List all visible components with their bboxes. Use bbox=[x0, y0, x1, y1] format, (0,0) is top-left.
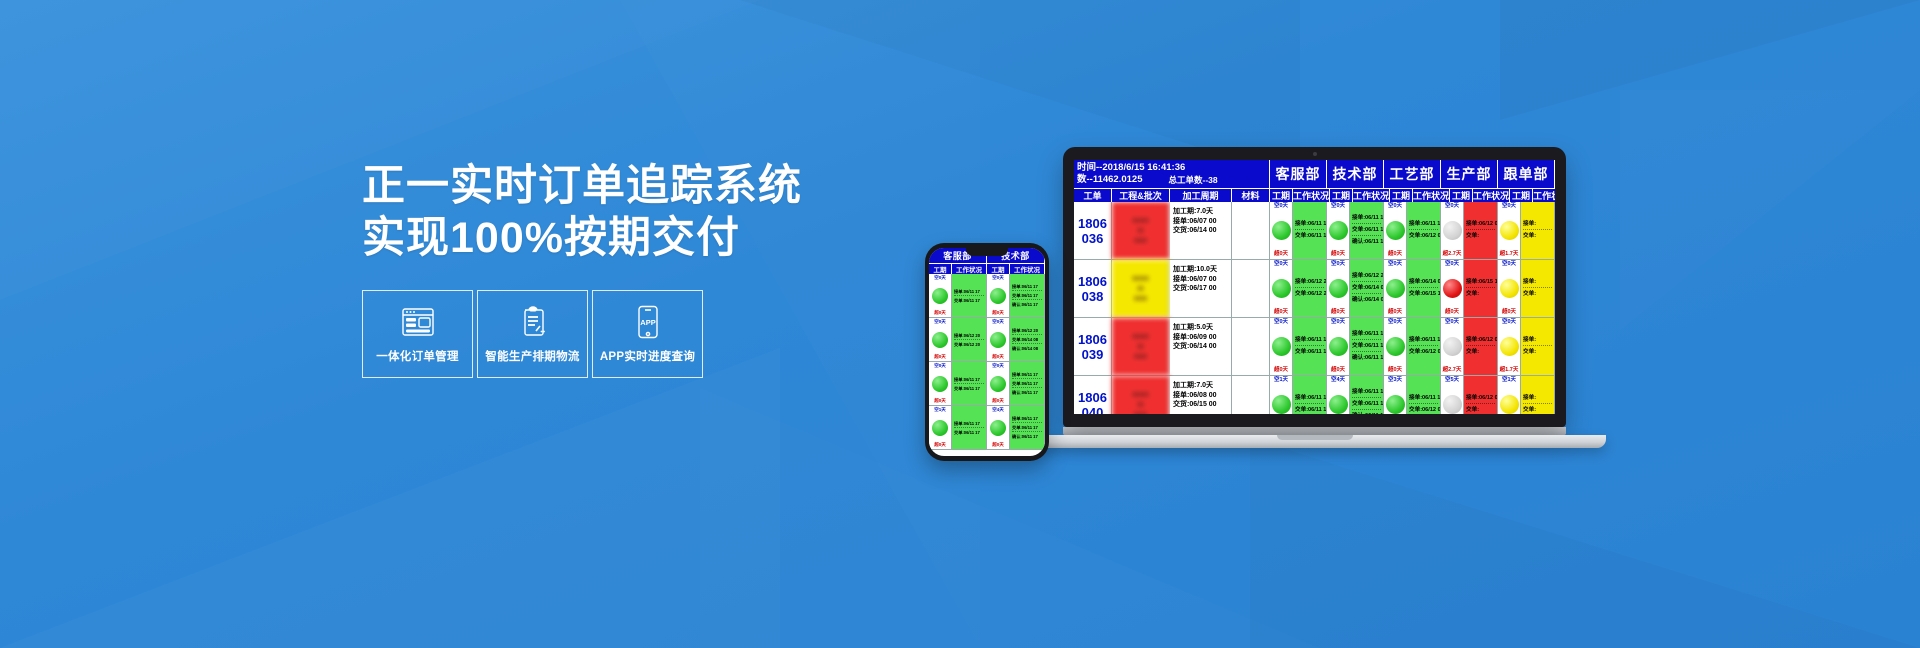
phone-table-row[interactable]: 空0天超0天接单:06/11 17交单:06/11 17空0天超0天接单:06/… bbox=[929, 362, 1045, 406]
cycle-line: 加工期:7.0天 bbox=[1173, 381, 1228, 391]
overdue-days-tag: 超1.7天 bbox=[1500, 251, 1519, 258]
status-line: 交单:06/11 17 bbox=[954, 429, 984, 436]
phone-notch bbox=[966, 248, 1008, 256]
laptop-lid: 时间--2018/6/15 16:41:36 数--11462.0125 总工单… bbox=[1063, 147, 1566, 427]
column-header: 工作状况 bbox=[1473, 188, 1510, 202]
status-line: 接单:06/12 20 bbox=[1295, 278, 1324, 288]
work-status-cell[interactable]: 接单:06/11 17交单:06/11 17确认:06/11 17 bbox=[1350, 376, 1384, 414]
department-header: 技术部 bbox=[1327, 160, 1384, 188]
status-line: 交单:06/11 17 bbox=[1012, 424, 1042, 432]
project-batch-cell: ▮▮▮▮▮▮▮▮▮▮▮ bbox=[1112, 318, 1170, 375]
processing-cycle-cell: 加工期:5.0天接单:06/09 00交货:06/14 00 bbox=[1170, 318, 1232, 375]
overdue-days-tag: 超0天 bbox=[1445, 309, 1459, 316]
idle-days-tag: 空1天 bbox=[934, 407, 946, 413]
material-cell bbox=[1232, 376, 1270, 414]
overdue-days-tag: 超0天 bbox=[992, 310, 1004, 316]
work-status-cell[interactable]: 接单:06/11 17交单:06/11 17确认:06/11 17 bbox=[1350, 318, 1384, 375]
overdue-days-tag: 超1.7天 bbox=[1500, 367, 1519, 374]
project-batch-cell: ▮▮▮▮▮▮▮▮▮▮▮ bbox=[1112, 376, 1170, 414]
phone-work-status-cell[interactable]: 接单:06/12 20交单:06/12 20 bbox=[952, 318, 987, 361]
phone-work-status-cell[interactable]: 接单:06/11 17交单:06/11 17确认:06/11 17 bbox=[1010, 362, 1045, 405]
status-line: 接单:06/12 09 bbox=[1466, 394, 1495, 404]
duration-cell[interactable]: 空1天超0.7天 bbox=[1498, 376, 1521, 414]
table-row[interactable]: 1806 040▮▮▮▮▮▮▮▮▮▮▮加工期:7.0天接单:06/08 00交货… bbox=[1074, 376, 1555, 414]
work-status-cell[interactable]: 接单:06/11 17交单:06/12 09 bbox=[1407, 318, 1441, 375]
status-line: 交单:06/11 17 bbox=[1352, 400, 1381, 410]
status-line: 交单: bbox=[1466, 232, 1495, 241]
status-line: 交单:06/11 17 bbox=[1295, 348, 1324, 357]
duration-cell[interactable]: 空0天超0天 bbox=[1270, 202, 1293, 259]
laptop-mockup: 时间--2018/6/15 16:41:36 数--11462.0125 总工单… bbox=[1063, 147, 1566, 448]
work-status-cell[interactable]: 接单:06/15 16交单: bbox=[1464, 260, 1498, 317]
status-line: 接单:06/11 17 bbox=[1409, 220, 1438, 230]
duration-cell[interactable]: 空0天超0天 bbox=[1384, 318, 1407, 375]
duration-cell[interactable]: 空3天超0天 bbox=[1384, 376, 1407, 414]
status-line: 交单:06/11 17 bbox=[1012, 380, 1042, 388]
feature-box-app-progress[interactable]: APP APP实时进度查询 bbox=[592, 290, 703, 378]
idle-days-tag: 空0天 bbox=[1388, 319, 1402, 326]
processing-cycle-cell: 加工期:10.0天接单:06/07 00交货:06/17 00 bbox=[1170, 260, 1232, 317]
overdue-days-tag: 超0天 bbox=[992, 398, 1004, 404]
dashboard-column-headers: 工单工程&批次加工周期材料工期工作状况工期工作状况工期工作状况工期工作状况工期工… bbox=[1074, 188, 1555, 202]
phone-work-status-cell[interactable]: 接单:06/11 17交单:06/11 17 bbox=[952, 274, 987, 317]
status-line: 交单:06/11 17 bbox=[1295, 232, 1324, 241]
idle-days-tag: 空0天 bbox=[1331, 319, 1345, 326]
status-line: 接单:06/11 17 bbox=[1352, 388, 1381, 398]
order-number: 1806 036 bbox=[1074, 202, 1112, 259]
table-row[interactable]: 1806 038▮▮▮▮▮▮▮▮▮▮▮加工期:10.0天接单:06/07 00交… bbox=[1074, 260, 1555, 318]
column-header: 材料 bbox=[1232, 188, 1270, 202]
idle-days-tag: 空0天 bbox=[1331, 261, 1345, 268]
work-status-cell[interactable]: 接单:06/12 20交单:06/12 20 bbox=[1293, 260, 1327, 317]
status-lamp-green bbox=[1272, 279, 1291, 298]
idle-days-tag: 空1天 bbox=[1274, 377, 1288, 384]
duration-cell[interactable]: 空0天超0天 bbox=[1384, 260, 1407, 317]
duration-cell[interactable]: 空0天超0天 bbox=[1384, 202, 1407, 259]
feature-box-order-management[interactable]: 一体化订单管理 bbox=[362, 290, 473, 378]
dashboard-window-icon bbox=[401, 305, 435, 339]
phone-work-status-cell[interactable]: 接单:06/12 20交单:06/14 08确认:06/14 08 bbox=[1010, 318, 1045, 361]
work-status-cell[interactable]: 接单:06/11 17交单:06/12 09 bbox=[1407, 376, 1441, 414]
bg-polygon bbox=[1620, 90, 1920, 330]
department-header: 生产部 bbox=[1441, 160, 1498, 188]
cycle-line: 交货:06/14 00 bbox=[1173, 342, 1228, 352]
status-line: 接单:06/12 09 bbox=[1466, 336, 1495, 346]
overdue-days-tag: 超0天 bbox=[1274, 309, 1288, 316]
idle-days-tag: 空0天 bbox=[1388, 203, 1402, 210]
department-header: 跟单部 bbox=[1498, 160, 1555, 188]
overdue-days-tag: 超0天 bbox=[1274, 251, 1288, 258]
status-lamp-green bbox=[1329, 221, 1348, 240]
phone-column-header: 工作状况 bbox=[1010, 263, 1045, 274]
status-line: 交单:06/12 09 bbox=[1409, 406, 1438, 414]
cycle-line: 接单:06/08 00 bbox=[1173, 391, 1228, 401]
duration-cell[interactable]: 空1天超0天 bbox=[1270, 376, 1293, 414]
status-lamp-green bbox=[1272, 221, 1291, 240]
idle-days-tag: 空0天 bbox=[992, 319, 1004, 325]
phone-duration-cell[interactable]: 空0天超0天 bbox=[929, 362, 952, 405]
status-lamp-green bbox=[1386, 279, 1405, 298]
headline-line-2: 实现100%按期交付 bbox=[362, 212, 882, 264]
status-lamp-green bbox=[1272, 337, 1291, 356]
work-status-cell[interactable]: 接单:06/14 08交单:06/15 16 bbox=[1407, 260, 1441, 317]
idle-days-tag: 空0天 bbox=[1502, 261, 1516, 268]
status-line: 交单:06/11 17 bbox=[954, 385, 984, 392]
order-tracking-dashboard[interactable]: 时间--2018/6/15 16:41:36 数--11462.0125 总工单… bbox=[1074, 160, 1555, 414]
status-line: 接单:06/11 17 bbox=[1352, 214, 1381, 224]
overdue-days-tag: 超0天 bbox=[1388, 367, 1402, 374]
status-line: 确认:06/11 17 bbox=[1012, 433, 1042, 440]
work-status-cell[interactable]: 接单:06/11 17交单:06/11 17 bbox=[1293, 318, 1327, 375]
status-lamp-grey bbox=[1443, 337, 1462, 356]
idle-days-tag: 空0天 bbox=[992, 275, 1004, 281]
status-lamp-red bbox=[1443, 279, 1462, 298]
overdue-days-tag: 超0天 bbox=[992, 442, 1004, 448]
overdue-days-tag: 超2.7天 bbox=[1443, 367, 1462, 374]
dashboard-title-bar: 时间--2018/6/15 16:41:36 数--11462.0125 总工单… bbox=[1074, 160, 1555, 188]
idle-days-tag: 空4天 bbox=[992, 407, 1004, 413]
duration-cell[interactable]: 空0天超0天 bbox=[1327, 202, 1350, 259]
cycle-line: 加工期:10.0天 bbox=[1173, 265, 1228, 275]
cycle-line: 接单:06/07 00 bbox=[1173, 217, 1228, 227]
feature-label: 一体化订单管理 bbox=[376, 348, 459, 364]
cycle-line: 加工期:7.0天 bbox=[1173, 207, 1228, 217]
status-line: 确认:06/11 17 bbox=[1352, 238, 1381, 247]
column-header: 工作状况 bbox=[1413, 188, 1450, 202]
status-lamp-green bbox=[932, 420, 948, 436]
column-header: 工作状况 bbox=[1353, 188, 1390, 202]
column-header: 工程&批次 bbox=[1112, 188, 1170, 202]
overdue-days-tag: 超0天 bbox=[1274, 367, 1288, 374]
duration-cell[interactable]: 空0天超2.7天 bbox=[1441, 318, 1464, 375]
status-line: 接单:06/11 17 bbox=[1409, 394, 1438, 404]
status-line: 交单:06/11 17 bbox=[1012, 292, 1042, 300]
idle-days-tag: 空5天 bbox=[1445, 377, 1459, 384]
duration-cell[interactable]: 空0天超0天 bbox=[1327, 318, 1350, 375]
dashboard-time: 时间--2018/6/15 16:41:36 bbox=[1077, 162, 1266, 174]
table-row[interactable]: 1806 036▮▮▮▮▮▮▮▮▮▮▮加工期:7.0天接单:06/07 00交货… bbox=[1074, 202, 1555, 260]
idle-days-tag: 空0天 bbox=[992, 363, 1004, 369]
phone-duration-cell[interactable]: 空0天超0天 bbox=[987, 318, 1010, 361]
idle-days-tag: 空1天 bbox=[1502, 377, 1516, 384]
status-line: 交单:06/12 09 bbox=[1409, 232, 1438, 241]
order-number: 1806 040 bbox=[1074, 376, 1112, 414]
status-lamp-grey bbox=[1443, 221, 1462, 240]
overdue-days-tag: 超2.7天 bbox=[1443, 251, 1462, 258]
cycle-line: 交货:06/17 00 bbox=[1173, 284, 1228, 294]
idle-days-tag: 空0天 bbox=[1388, 261, 1402, 268]
duration-cell[interactable]: 空0天超1.7天 bbox=[1498, 202, 1521, 259]
status-line: 接单:06/11 17 bbox=[1409, 336, 1438, 346]
overdue-days-tag: 超0天 bbox=[934, 354, 946, 360]
column-header: 工期 bbox=[1270, 188, 1293, 202]
phone-duration-cell[interactable]: 空1天超0天 bbox=[929, 406, 952, 449]
phone-column-header: 工期 bbox=[987, 263, 1010, 274]
status-lamp-yellow bbox=[1500, 395, 1519, 414]
status-line: 接单:06/11 17 bbox=[1295, 336, 1324, 346]
status-lamp-green bbox=[1386, 221, 1405, 240]
status-lamp-green bbox=[1329, 395, 1348, 414]
status-line: 交单:06/12 09 bbox=[1409, 348, 1438, 357]
feature-box-production-scheduling[interactable]: 智能生产排期物流 bbox=[477, 290, 588, 378]
phone-work-status-cell[interactable]: 接单:06/11 17交单:06/11 17 bbox=[952, 362, 987, 405]
status-line: 交单:06/14 08 bbox=[1012, 336, 1042, 344]
status-line: 确认:06/11 17 bbox=[1012, 389, 1042, 396]
status-line: 交单: bbox=[1466, 348, 1495, 357]
status-line: 接单:06/11 17 bbox=[1295, 394, 1324, 404]
work-status-cell[interactable]: 接单:交单: bbox=[1521, 202, 1555, 259]
duration-cell[interactable]: 空0天超0天 bbox=[1441, 260, 1464, 317]
work-status-cell[interactable]: 接单:交单: bbox=[1521, 260, 1555, 317]
feature-label: APP实时进度查询 bbox=[600, 348, 695, 364]
status-lamp-grey bbox=[1443, 395, 1462, 414]
column-header: 工期 bbox=[1450, 188, 1473, 202]
idle-days-tag: 空0天 bbox=[1502, 203, 1516, 210]
status-line: 确认:06/11 17 bbox=[1352, 412, 1381, 414]
work-status-cell[interactable]: 接单:06/12 09交单: bbox=[1464, 202, 1498, 259]
status-line: 交单:06/12 20 bbox=[1295, 290, 1324, 299]
phone-work-status-cell[interactable]: 接单:06/11 17交单:06/11 17确认:06/11 17 bbox=[1010, 274, 1045, 317]
status-line: 接单:06/11 17 bbox=[1012, 283, 1042, 291]
overdue-days-tag: 超0天 bbox=[934, 310, 946, 316]
cycle-line: 接单:06/09 00 bbox=[1173, 333, 1228, 343]
phone-screen[interactable]: 客服部技术部 工期工作状况工期工作状况 空0天超0天接单:06/11 17交单:… bbox=[929, 248, 1045, 456]
work-status-cell[interactable]: 接单:06/11 17交单:06/11 17确认:06/11 17 bbox=[1350, 202, 1384, 259]
idle-days-tag: 空3天 bbox=[1388, 377, 1402, 384]
status-lamp-green bbox=[932, 376, 948, 392]
status-line: 接单:06/11 17 bbox=[1352, 330, 1381, 340]
status-line: 接单: bbox=[1523, 278, 1552, 288]
status-lamp-green bbox=[990, 376, 1006, 392]
phone-column-headers: 工期工作状况工期工作状况 bbox=[929, 263, 1045, 274]
status-line: 接单:06/14 08 bbox=[1409, 278, 1438, 288]
processing-cycle-cell: 加工期:7.0天接单:06/07 00交货:06/14 00 bbox=[1170, 202, 1232, 259]
status-line: 交单:06/14 08 bbox=[1352, 284, 1381, 294]
phone-mockup: 客服部技术部 工期工作状况工期工作状况 空0天超0天接单:06/11 17交单:… bbox=[925, 243, 1049, 461]
processing-cycle-cell: 加工期:7.0天接单:06/08 00交货:06/15 00 bbox=[1170, 376, 1232, 414]
idle-days-tag: 空4天 bbox=[1331, 377, 1345, 384]
idle-days-tag: 空0天 bbox=[1274, 319, 1288, 326]
duration-cell[interactable]: 空0天超1.7天 bbox=[1498, 318, 1521, 375]
column-header: 工期 bbox=[1510, 188, 1533, 202]
status-line: 接单: bbox=[1523, 394, 1552, 404]
work-status-cell[interactable]: 接单:06/11 17交单:06/12 09 bbox=[1407, 202, 1441, 259]
status-lamp-green bbox=[1329, 279, 1348, 298]
overdue-days-tag: 超0天 bbox=[934, 398, 946, 404]
phone-duration-cell[interactable]: 空4天超0天 bbox=[987, 406, 1010, 449]
clipboard-schedule-icon bbox=[519, 305, 547, 339]
work-status-cell[interactable]: 接单:交单: bbox=[1521, 318, 1555, 375]
status-lamp-green bbox=[990, 332, 1006, 348]
duration-cell[interactable]: 空0天超2.7天 bbox=[1441, 202, 1464, 259]
status-lamp-green bbox=[932, 288, 948, 304]
idle-days-tag: 空0天 bbox=[1445, 203, 1459, 210]
overdue-days-tag: 超0天 bbox=[1388, 309, 1402, 316]
headline-line-1: 正一实时订单追踪系统 bbox=[362, 160, 882, 212]
hero-copy: 正一实时订单追踪系统 实现100%按期交付 一体化订单管理 bbox=[362, 160, 882, 378]
status-lamp-yellow bbox=[1500, 279, 1519, 298]
phone-column-header: 工期 bbox=[929, 263, 952, 274]
status-line: 交单: bbox=[1523, 290, 1552, 299]
phone-table-row[interactable]: 空0天超0天接单:06/12 20交单:06/12 20空0天超0天接单:06/… bbox=[929, 318, 1045, 362]
status-line: 交单:06/11 17 bbox=[1352, 342, 1381, 352]
phone-dashboard-rows[interactable]: 空0天超0天接单:06/11 17交单:06/11 17空0天超0天接单:06/… bbox=[929, 274, 1045, 450]
cycle-line: 接单:06/07 00 bbox=[1173, 275, 1228, 285]
status-line: 接单:06/12 09 bbox=[1466, 220, 1495, 230]
column-header: 工期 bbox=[1390, 188, 1413, 202]
status-line: 接单:06/11 17 bbox=[1012, 371, 1042, 379]
status-line: 交单:06/11 17 bbox=[1295, 406, 1324, 414]
status-line: 交单:06/12 20 bbox=[954, 341, 984, 348]
order-number: 1806 039 bbox=[1074, 318, 1112, 375]
cycle-line: 加工期:5.0天 bbox=[1173, 323, 1228, 333]
idle-days-tag: 空0天 bbox=[1274, 261, 1288, 268]
status-line: 交单: bbox=[1466, 406, 1495, 414]
duration-cell[interactable]: 空0天超0天 bbox=[1498, 260, 1521, 317]
work-status-cell[interactable]: 接单:06/11 17交单:06/11 17 bbox=[1293, 376, 1327, 414]
phone-work-status-cell[interactable]: 接单:06/11 17交单:06/11 17确认:06/11 17 bbox=[1010, 406, 1045, 449]
cycle-line: 交货:06/15 00 bbox=[1173, 400, 1228, 410]
phone-duration-cell[interactable]: 空0天超0天 bbox=[929, 318, 952, 361]
idle-days-tag: 空0天 bbox=[1502, 319, 1516, 326]
status-lamp-yellow bbox=[1500, 221, 1519, 240]
material-cell bbox=[1232, 202, 1270, 259]
laptop-base bbox=[1023, 435, 1606, 448]
feature-label: 智能生产排期物流 bbox=[485, 348, 579, 364]
cycle-line: 交货:06/14 00 bbox=[1173, 226, 1228, 236]
duration-cell[interactable]: 空0天超0天 bbox=[1327, 260, 1350, 317]
overdue-days-tag: 超0天 bbox=[934, 442, 946, 448]
feature-list: 一体化订单管理 智能生产排期物流 bbox=[362, 290, 882, 378]
column-header: 工单 bbox=[1074, 188, 1112, 202]
status-lamp-green bbox=[1386, 395, 1405, 414]
status-lamp-green bbox=[1386, 337, 1405, 356]
idle-days-tag: 空0天 bbox=[934, 363, 946, 369]
idle-days-tag: 空0天 bbox=[1274, 203, 1288, 210]
status-line: 确认:06/11 17 bbox=[1352, 354, 1381, 363]
status-lamp-green bbox=[932, 332, 948, 348]
order-number: 1806 038 bbox=[1074, 260, 1112, 317]
phone-order-tracking-dashboard[interactable]: 客服部技术部 工期工作状况工期工作状况 空0天超0天接单:06/11 17交单:… bbox=[929, 248, 1045, 456]
status-line: 接单:06/12 20 bbox=[1352, 272, 1381, 282]
svg-text:APP: APP bbox=[640, 318, 655, 327]
phone-duration-cell[interactable]: 空0天超0天 bbox=[987, 274, 1010, 317]
dashboard-rows[interactable]: 1806 036▮▮▮▮▮▮▮▮▮▮▮加工期:7.0天接单:06/07 00交货… bbox=[1074, 202, 1555, 414]
column-header: 工期 bbox=[1330, 188, 1353, 202]
idle-days-tag: 空0天 bbox=[1445, 319, 1459, 326]
overdue-days-tag: 超0天 bbox=[1331, 367, 1345, 374]
status-line: 接单:06/11 17 bbox=[1295, 220, 1324, 230]
status-line: 交单: bbox=[1523, 406, 1552, 414]
phone-duration-cell[interactable]: 空0天超0天 bbox=[987, 362, 1010, 405]
work-status-cell[interactable]: 接单:06/12 09交单: bbox=[1464, 376, 1498, 414]
phone-work-status-cell[interactable]: 接单:06/11 17交单:06/11 17 bbox=[952, 406, 987, 449]
status-line: 交单: bbox=[1523, 348, 1552, 357]
duration-cell[interactable]: 空0天超0天 bbox=[1270, 318, 1293, 375]
status-line: 确认:06/14 08 bbox=[1012, 345, 1042, 352]
department-header: 客服部 bbox=[1270, 160, 1327, 188]
table-row[interactable]: 1806 039▮▮▮▮▮▮▮▮▮▮▮加工期:5.0天接单:06/09 00交货… bbox=[1074, 318, 1555, 376]
status-lamp-green bbox=[990, 288, 1006, 304]
work-status-cell[interactable]: 接单:06/12 09交单: bbox=[1464, 318, 1498, 375]
laptop-hinge bbox=[1063, 427, 1566, 435]
overdue-days-tag: 超0天 bbox=[1388, 251, 1402, 258]
status-line: 接单:06/12 20 bbox=[1012, 327, 1042, 335]
laptop-screen[interactable]: 时间--2018/6/15 16:41:36 数--11462.0125 总工单… bbox=[1074, 160, 1555, 414]
status-lamp-green bbox=[990, 420, 1006, 436]
project-batch-cell: ▮▮▮▮▮▮▮▮▮▮▮ bbox=[1112, 202, 1170, 259]
dashboard-meta: 时间--2018/6/15 16:41:36 数--11462.0125 总工单… bbox=[1074, 160, 1270, 188]
column-header: 工作状况 bbox=[1293, 188, 1330, 202]
status-line: 接单:06/12 20 bbox=[954, 332, 984, 340]
project-batch-cell: ▮▮▮▮▮▮▮▮▮▮▮ bbox=[1112, 260, 1170, 317]
idle-days-tag: 空0天 bbox=[934, 319, 946, 325]
column-header: 加工周期 bbox=[1170, 188, 1232, 202]
phone-column-header: 工作状况 bbox=[952, 263, 987, 274]
laptop-trackpad-notch bbox=[1277, 435, 1353, 440]
status-line: 交单:06/11 17 bbox=[1352, 226, 1381, 236]
status-lamp-green bbox=[1329, 337, 1348, 356]
webcam-icon bbox=[1313, 152, 1317, 156]
dashboard-count: 数--11462.0125 bbox=[1077, 174, 1143, 186]
department-headers: 客服部技术部工艺部生产部跟单部 bbox=[1270, 160, 1555, 188]
duration-cell[interactable]: 空0天超0天 bbox=[1270, 260, 1293, 317]
status-lamp-green bbox=[1272, 395, 1291, 414]
idle-days-tag: 空0天 bbox=[1445, 261, 1459, 268]
status-line: 交单: bbox=[1466, 290, 1495, 299]
status-line: 接单:06/11 17 bbox=[954, 420, 984, 428]
duration-cell[interactable]: 空4天超0天 bbox=[1327, 376, 1350, 414]
overdue-days-tag: 超0天 bbox=[1502, 309, 1516, 316]
material-cell bbox=[1232, 260, 1270, 317]
phone-table-row[interactable]: 空1天超0天接单:06/11 17交单:06/11 17空4天超0天接单:06/… bbox=[929, 406, 1045, 450]
status-line: 接单:06/11 17 bbox=[1012, 415, 1042, 423]
status-line: 接单: bbox=[1523, 220, 1552, 230]
work-status-cell[interactable]: 接单:06/12 20交单:06/14 08确认:06/14 08 bbox=[1350, 260, 1384, 317]
phone-table-row[interactable]: 空0天超0天接单:06/11 17交单:06/11 17空0天超0天接单:06/… bbox=[929, 274, 1045, 318]
mobile-app-icon: APP bbox=[636, 305, 660, 339]
status-line: 确认:06/11 17 bbox=[1012, 301, 1042, 308]
work-status-cell[interactable]: 接单:交单: bbox=[1521, 376, 1555, 414]
status-lamp-yellow bbox=[1500, 337, 1519, 356]
overdue-days-tag: 超0天 bbox=[1331, 309, 1345, 316]
status-line: 确认:06/14 08 bbox=[1352, 296, 1381, 305]
status-line: 交单: bbox=[1523, 232, 1552, 241]
idle-days-tag: 空0天 bbox=[1331, 203, 1345, 210]
overdue-days-tag: 超0天 bbox=[992, 354, 1004, 360]
column-header: 工作状况 bbox=[1533, 188, 1555, 202]
status-line: 交单:06/15 16 bbox=[1409, 290, 1438, 299]
material-cell bbox=[1232, 318, 1270, 375]
work-status-cell[interactable]: 接单:06/11 17交单:06/11 17 bbox=[1293, 202, 1327, 259]
idle-days-tag: 空0天 bbox=[934, 275, 946, 281]
department-header: 工艺部 bbox=[1384, 160, 1441, 188]
status-line: 接单: bbox=[1523, 336, 1552, 346]
status-line: 接单:06/11 17 bbox=[954, 376, 984, 384]
dashboard-total-orders: 总工单数--38 bbox=[1169, 174, 1218, 186]
phone-duration-cell[interactable]: 空0天超0天 bbox=[929, 274, 952, 317]
overdue-days-tag: 超0天 bbox=[1331, 251, 1345, 258]
bg-polygon bbox=[1250, 438, 1920, 648]
status-line: 交单:06/11 17 bbox=[954, 297, 984, 304]
duration-cell[interactable]: 空5天超1.7天 bbox=[1441, 376, 1464, 414]
status-line: 接单:06/15 16 bbox=[1466, 278, 1495, 288]
status-line: 接单:06/11 17 bbox=[954, 288, 984, 296]
